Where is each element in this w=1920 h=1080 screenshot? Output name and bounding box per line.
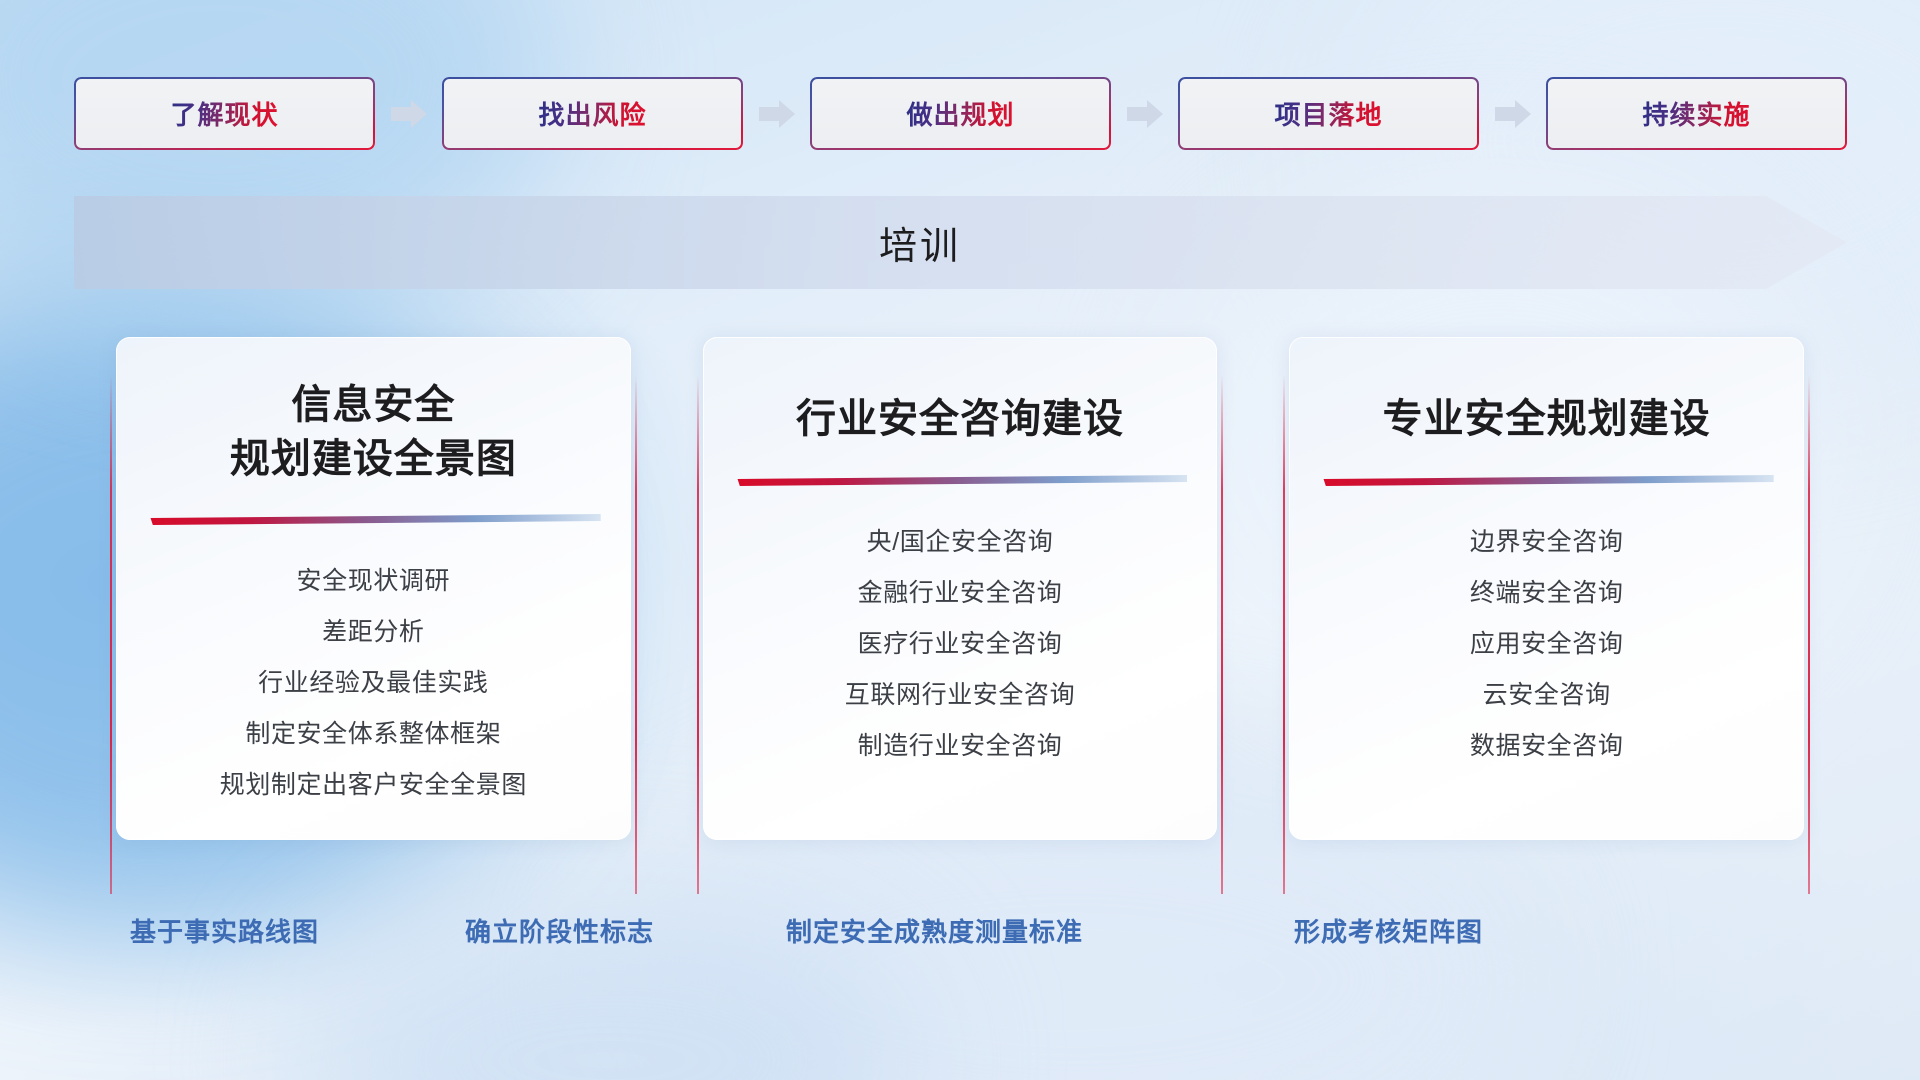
footnote-label-2: 制定安全成熟度测量标准 bbox=[786, 912, 1083, 949]
process-step-label: 持续实施 bbox=[1642, 95, 1750, 132]
list-item: 规划制定出客户安全全景图 bbox=[146, 760, 601, 811]
training-banner: 培训 bbox=[74, 196, 1847, 289]
process-step-3[interactable]: 项目落地 bbox=[1178, 77, 1479, 150]
process-step-row: 了解现状 找出风险 做出规划 项目落地 bbox=[74, 77, 1847, 150]
process-step-label: 了解现状 bbox=[170, 95, 278, 132]
list-item: 互联网行业安全咨询 bbox=[733, 670, 1188, 721]
arrow-right-icon bbox=[1493, 97, 1533, 131]
list-item: 制定安全体系整体框架 bbox=[146, 709, 601, 760]
card-title-line1: 信息安全 bbox=[230, 379, 517, 433]
list-item: 云安全咨询 bbox=[1319, 670, 1774, 721]
list-item: 边界安全咨询 bbox=[1319, 517, 1774, 568]
list-item: 医疗行业安全咨询 bbox=[733, 619, 1188, 670]
card-row: 信息安全 规划建设全景图 bbox=[110, 337, 1810, 872]
footnote-label-1: 确立阶段性标志 bbox=[465, 912, 654, 949]
card-wrapper-0: 信息安全 规划建设全景图 bbox=[110, 337, 637, 872]
card-divider bbox=[1319, 473, 1774, 491]
card-wrapper-2: 专业安全规划建设 bbox=[1283, 337, 1810, 872]
process-step-4[interactable]: 持续实施 bbox=[1546, 77, 1847, 150]
card-divider bbox=[146, 512, 601, 530]
card-title-line2: 规划建设全景图 bbox=[230, 433, 517, 487]
process-step-2[interactable]: 做出规划 bbox=[810, 77, 1111, 150]
footnote-row: 基于事实路线图 确立阶段性标志 制定安全成熟度测量标准 形成考核矩阵图 bbox=[0, 912, 1920, 956]
list-item: 金融行业安全咨询 bbox=[733, 568, 1188, 619]
training-banner-label: 培训 bbox=[74, 196, 1766, 289]
card-list-1: 央/国企安全咨询 金融行业安全咨询 医疗行业安全咨询 互联网行业安全咨询 制造行… bbox=[733, 517, 1188, 772]
card-title-line1: 行业安全咨询建设 bbox=[796, 393, 1124, 447]
list-item: 央/国企安全咨询 bbox=[733, 517, 1188, 568]
process-step-label: 找出风险 bbox=[538, 95, 646, 132]
arrow-right-icon bbox=[757, 97, 797, 131]
card-2[interactable]: 专业安全规划建设 bbox=[1289, 337, 1804, 840]
list-item: 安全现状调研 bbox=[146, 556, 601, 607]
footnote-label-0: 基于事实路线图 bbox=[130, 912, 319, 949]
card-title-2: 专业安全规划建设 bbox=[1383, 393, 1711, 447]
card-0[interactable]: 信息安全 规划建设全景图 bbox=[116, 337, 631, 840]
list-item: 差距分析 bbox=[146, 607, 601, 658]
process-step-label: 项目落地 bbox=[1274, 95, 1382, 132]
card-divider bbox=[733, 473, 1188, 491]
arrow-right-icon bbox=[1125, 97, 1165, 131]
card-title-line1: 专业安全规划建设 bbox=[1383, 393, 1711, 447]
card-title-0: 信息安全 规划建设全景图 bbox=[230, 379, 517, 486]
process-step-0[interactable]: 了解现状 bbox=[74, 77, 375, 150]
card-list-0: 安全现状调研 差距分析 行业经验及最佳实践 制定安全体系整体框架 规划制定出客户… bbox=[146, 556, 601, 811]
list-item: 制造行业安全咨询 bbox=[733, 721, 1188, 772]
list-item: 应用安全咨询 bbox=[1319, 619, 1774, 670]
list-item: 终端安全咨询 bbox=[1319, 568, 1774, 619]
card-wrapper-1: 行业安全咨询建设 bbox=[697, 337, 1224, 872]
card-title-1: 行业安全咨询建设 bbox=[796, 393, 1124, 447]
arrow-right-icon bbox=[389, 97, 429, 131]
process-step-label: 做出规划 bbox=[906, 95, 1014, 132]
list-item: 行业经验及最佳实践 bbox=[146, 658, 601, 709]
process-step-1[interactable]: 找出风险 bbox=[442, 77, 743, 150]
slide-canvas: 了解现状 找出风险 做出规划 项目落地 bbox=[0, 0, 1920, 1080]
card-1[interactable]: 行业安全咨询建设 bbox=[703, 337, 1218, 840]
list-item: 数据安全咨询 bbox=[1319, 721, 1774, 772]
footnote-label-3: 形成考核矩阵图 bbox=[1294, 912, 1483, 949]
card-list-2: 边界安全咨询 终端安全咨询 应用安全咨询 云安全咨询 数据安全咨询 bbox=[1319, 517, 1774, 772]
